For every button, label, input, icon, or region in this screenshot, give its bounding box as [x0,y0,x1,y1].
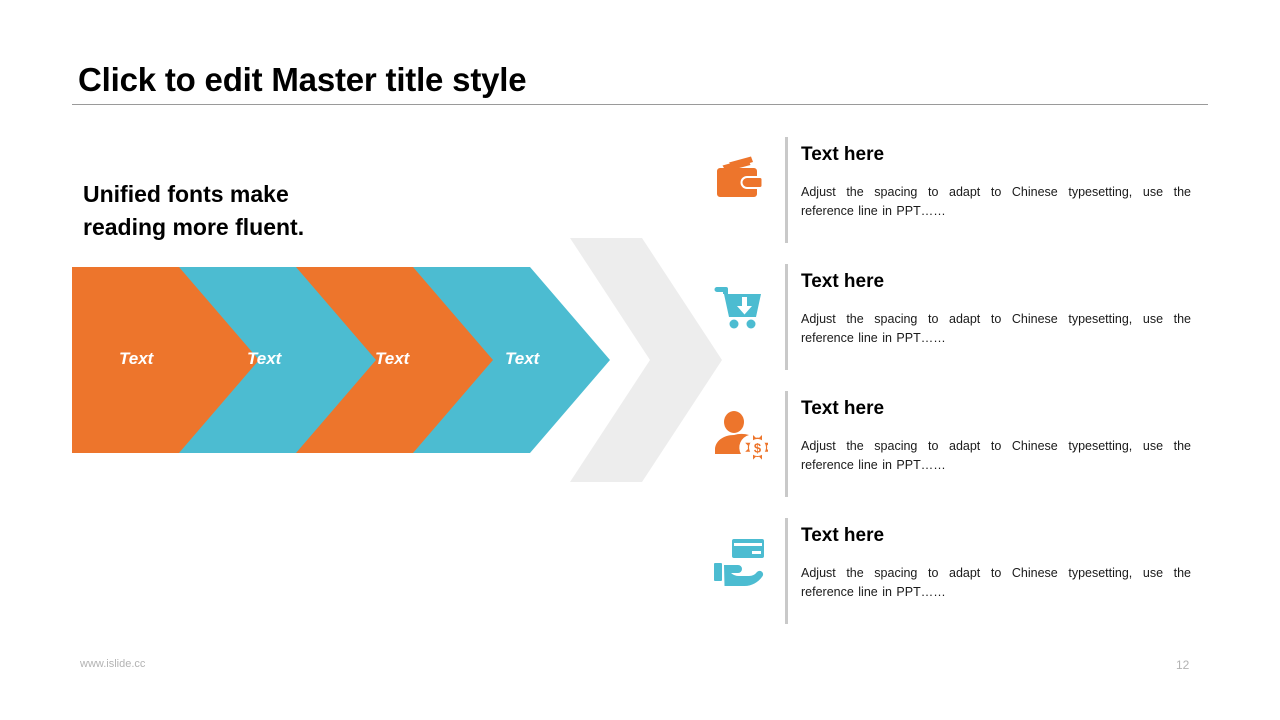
block-divider-4 [785,518,788,624]
content-block-1: Text here Adjust the spacing to adapt to… [700,135,1200,245]
hand-card-icon [712,533,768,589]
wallet-icon [712,152,768,208]
block-divider-3 [785,391,788,497]
block-title-2: Text here [801,271,884,293]
content-block-4: Text here Adjust the spacing to adapt to… [700,516,1200,626]
chevron-label-3: Text [375,349,409,369]
chevron-label-1: Text [119,349,153,369]
block-body-4: Adjust the spacing to adapt to Chinese t… [801,564,1191,602]
page-title: Click to edit Master title style [78,61,526,99]
content-block-2: Text here Adjust the spacing to adapt to… [700,262,1200,372]
slide-canvas: Click to edit Master title style Unified… [0,0,1280,720]
lead-text-line1: Unified fonts make [83,181,289,207]
block-body-1: Adjust the spacing to adapt to Chinese t… [801,183,1191,221]
block-divider-2 [785,264,788,370]
user-money-icon: $ [712,406,768,462]
content-block-3: $ Text here Adjust the spacing to adapt … [700,389,1200,499]
chevron-label-2: Text [247,349,281,369]
block-title-3: Text here [801,398,884,420]
title-divider [72,104,1208,105]
footer-page-number: 12 [1176,658,1189,672]
shopping-cart-icon [712,279,768,335]
block-divider-1 [785,137,788,243]
block-body-2: Adjust the spacing to adapt to Chinese t… [801,310,1191,348]
svg-text:$: $ [754,441,762,456]
block-title-1: Text here [801,144,884,166]
chevron-label-4: Text [505,349,539,369]
block-title-4: Text here [801,525,884,547]
footer-website: www.islide.cc [80,658,145,670]
block-body-3: Adjust the spacing to adapt to Chinese t… [801,437,1191,475]
